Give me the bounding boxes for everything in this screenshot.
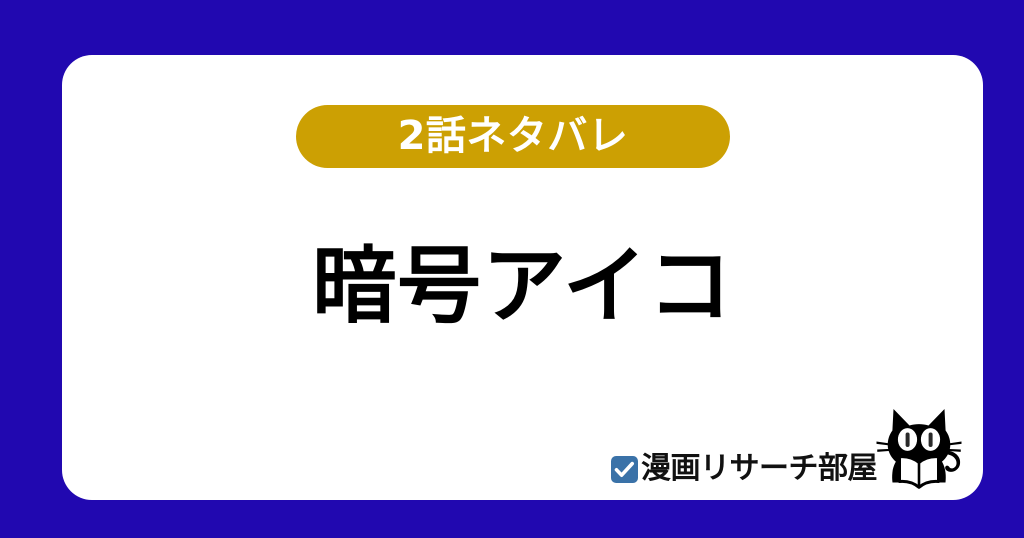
spoiler-badge-label: 2話ネタバレ <box>398 116 629 156</box>
content-card: 2話ネタバレ 暗号アイコ 漫画リサーチ部屋 <box>62 55 983 500</box>
brand-signature: 漫画リサーチ部屋 <box>611 406 965 492</box>
page-title: 暗号アイコ <box>62 240 983 332</box>
thumbnail-canvas: 2話ネタバレ 暗号アイコ 漫画リサーチ部屋 <box>0 0 1024 538</box>
cat-reading-book-icon <box>873 406 965 492</box>
spoiler-badge: 2話ネタバレ <box>296 105 730 168</box>
brand-label-group: 漫画リサーチ部屋 <box>611 454 877 492</box>
brand-name-label: 漫画リサーチ部屋 <box>641 454 877 484</box>
check-mark-button-icon <box>611 456 638 483</box>
